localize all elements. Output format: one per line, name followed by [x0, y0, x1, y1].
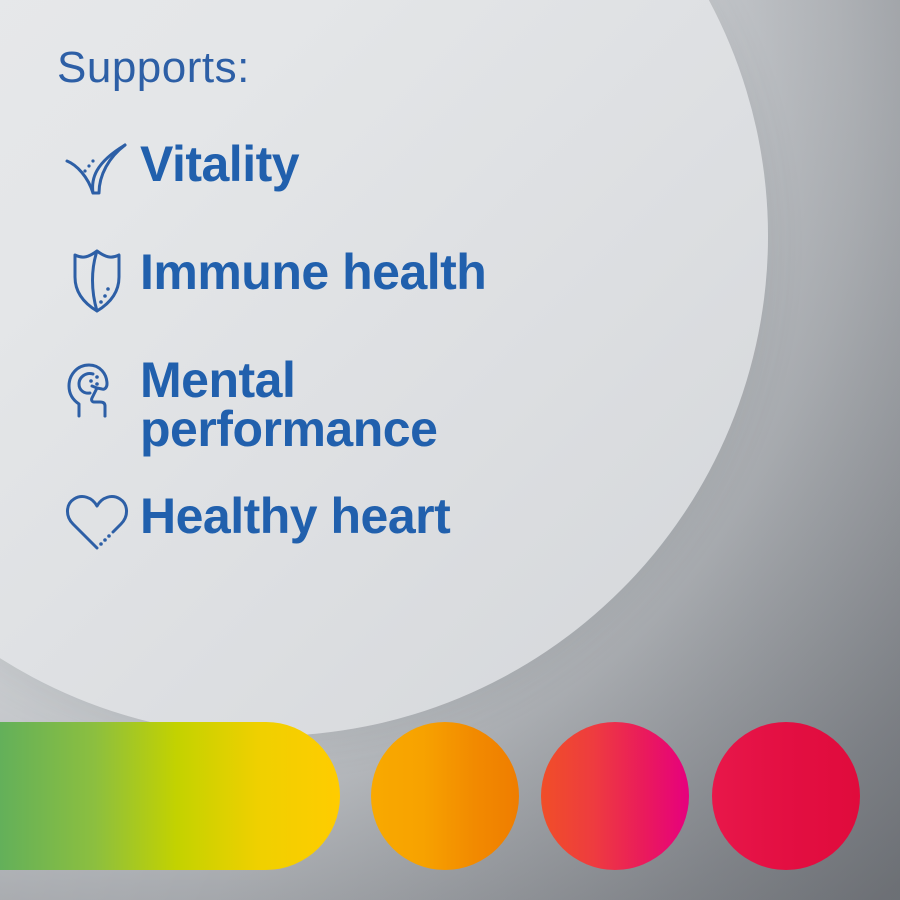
benefit-label-line1: Vitality	[140, 136, 299, 192]
benefits-list: Vitality Immune health	[54, 128, 854, 584]
benefit-label-line1: Immune health	[140, 244, 486, 300]
checkmark-icon	[54, 128, 140, 214]
benefit-label-immune: Immune health	[140, 236, 486, 297]
magenta-dot	[541, 722, 689, 870]
benefit-row-mental: Mental performance	[54, 344, 854, 454]
shield-icon	[54, 236, 140, 322]
benefit-row-heart: Healthy heart	[54, 480, 854, 566]
benefit-row-immune: Immune health	[54, 236, 854, 322]
crimson-dot	[712, 722, 860, 870]
head-brain-icon	[54, 344, 140, 438]
benefit-label-heart: Healthy heart	[140, 480, 450, 541]
orange-dot	[371, 722, 519, 870]
benefit-label-mental: Mental performance	[140, 344, 437, 454]
benefit-label-vitality: Vitality	[140, 128, 299, 189]
infographic-canvas: Supports: Vitality	[0, 0, 900, 900]
benefit-label-line1: Healthy heart	[140, 488, 450, 544]
benefit-label-line1: Mental	[140, 352, 295, 408]
benefit-row-vitality: Vitality	[54, 128, 854, 214]
color-band	[0, 722, 900, 870]
benefit-label-line2: performance	[140, 405, 437, 454]
heart-icon	[54, 480, 140, 566]
green-to-yellow-pill	[0, 722, 340, 870]
supports-heading: Supports:	[57, 46, 250, 90]
